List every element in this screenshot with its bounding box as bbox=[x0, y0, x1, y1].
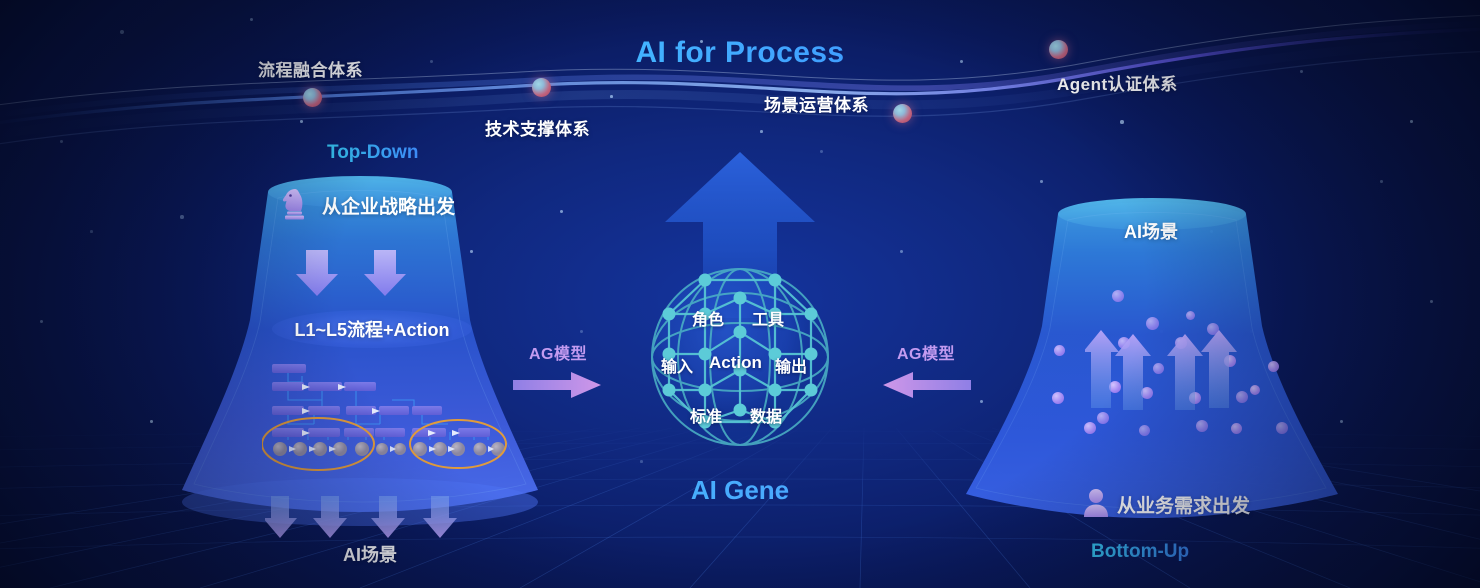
ag-model-right: AG模型 bbox=[880, 340, 972, 403]
flow-dot bbox=[1112, 290, 1124, 302]
ag-model-left: AG模型 bbox=[512, 340, 604, 403]
left-funnel-arrows-top bbox=[296, 250, 416, 300]
right-funnel-top-text: AI场景 bbox=[1124, 218, 1178, 244]
chess-knight-icon bbox=[278, 186, 310, 222]
flow-dot bbox=[1052, 392, 1064, 404]
milestone-node-2[interactable] bbox=[532, 78, 551, 97]
right-funnel-heading: Bottom-Up bbox=[1091, 541, 1189, 563]
right-funnel-arrows bbox=[1085, 330, 1245, 410]
flow-dot bbox=[1084, 422, 1096, 434]
flow-dot bbox=[1231, 423, 1242, 434]
ag-model-left-label: AG模型 bbox=[512, 340, 604, 364]
left-funnel-stage-pill: L1~L5流程+Action bbox=[272, 310, 472, 348]
flow-dot bbox=[1054, 345, 1065, 356]
left-funnel-top-text: 从企业战略出发 bbox=[322, 192, 455, 219]
star bbox=[1430, 300, 1433, 303]
left-funnel-heading: Top-Down bbox=[327, 142, 418, 164]
star bbox=[560, 210, 563, 213]
top-label-3: 场景运营体系 bbox=[764, 91, 869, 116]
star bbox=[900, 250, 903, 253]
milestone-node-1[interactable] bbox=[303, 88, 322, 107]
arrow-left-icon bbox=[881, 372, 971, 398]
star bbox=[1040, 180, 1043, 183]
flow-dot bbox=[1139, 425, 1150, 436]
arrow-right-icon bbox=[513, 372, 603, 398]
milestone-node-3[interactable] bbox=[893, 104, 912, 123]
star bbox=[1380, 180, 1383, 183]
gene-cell-output: 输出 bbox=[775, 353, 807, 377]
gene-cell-role: 角色 bbox=[692, 306, 724, 330]
infographic-canvas: 流程融合体系 技术支撑体系 场景运营体系 Agent认证体系 AI for Pr… bbox=[0, 0, 1480, 588]
top-label-2: 技术支撑体系 bbox=[485, 115, 590, 140]
left-funnel-bottom-text: AI场景 bbox=[343, 541, 397, 567]
flow-dot bbox=[1146, 317, 1159, 330]
top-label-4: Agent认证体系 bbox=[1057, 70, 1178, 95]
gene-cell-tool: 工具 bbox=[752, 306, 784, 330]
star bbox=[580, 330, 583, 333]
flow-dot bbox=[1250, 385, 1260, 395]
page-title: AI for Process bbox=[0, 36, 1480, 70]
flow-dot bbox=[1097, 412, 1109, 424]
star bbox=[40, 320, 43, 323]
flow-dot bbox=[1268, 361, 1279, 372]
flow-dot bbox=[1186, 311, 1195, 320]
ai-gene-label: AI Gene bbox=[0, 475, 1480, 506]
left-funnel-stage-label: L1~L5流程+Action bbox=[294, 316, 449, 342]
flow-dot bbox=[1196, 420, 1208, 432]
star bbox=[90, 230, 93, 233]
flow-dot bbox=[1276, 422, 1288, 434]
process-tree-diagram bbox=[262, 352, 518, 472]
gene-cell-data: 数据 bbox=[750, 403, 782, 427]
ag-model-right-label: AG模型 bbox=[880, 340, 972, 364]
gene-cell-standard: 标准 bbox=[690, 403, 722, 427]
gene-cell-input: 输入 bbox=[661, 353, 693, 377]
gene-cell-action: Action bbox=[709, 353, 762, 373]
